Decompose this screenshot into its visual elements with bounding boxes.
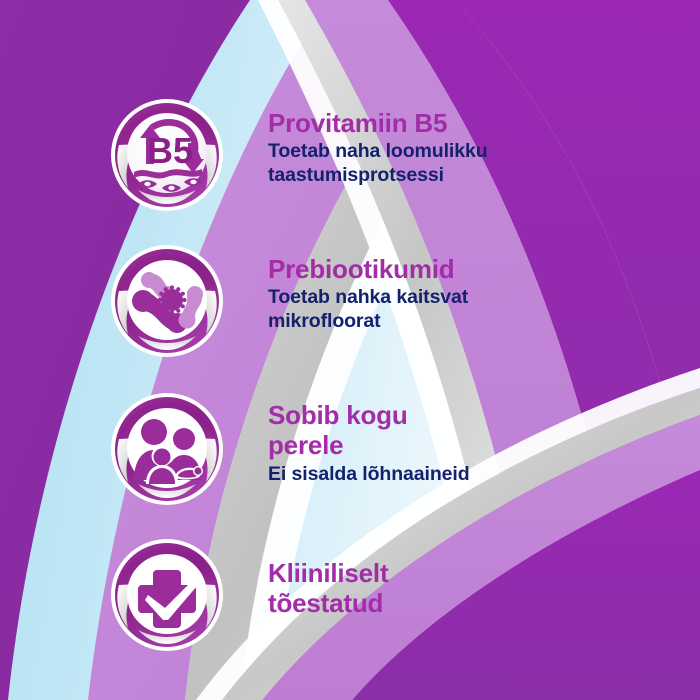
feature-title: Sobib kogu perele (268, 400, 700, 461)
feature-title: Kliiniliselt tõestatud (268, 558, 700, 619)
feature-text-family: Sobib kogu perele Ei sisalda lõhnaaineid (268, 392, 700, 487)
product-benefits-poster: B5 Provitamiin B5 (0, 0, 700, 700)
feature-row-prebiotics: Prebiootikumid Toetab nahka kaitsvat mik… (0, 244, 700, 358)
feature-title: Prebiootikumid (268, 254, 700, 284)
feature-row-family: Sobib kogu perele Ei sisalda lõhnaaineid (0, 392, 700, 506)
badge-provitamin-b5: B5 (110, 98, 224, 212)
feature-subtitle: Ei sisalda lõhnaaineid (268, 463, 700, 487)
badge-label-b5: B5 (147, 130, 193, 171)
feature-list: B5 Provitamiin B5 (0, 0, 700, 700)
feature-row-provitamin-b5: B5 Provitamiin B5 (0, 98, 700, 212)
feature-text-clinically-proven: Kliiniliselt tõestatud (268, 538, 700, 621)
feature-row-clinically-proven: Kliiniliselt tõestatud (0, 538, 700, 652)
feature-title: Provitamiin B5 (268, 108, 700, 138)
badge-family (110, 392, 224, 506)
feature-subtitle: Toetab naha loomulikku taastumisprotsess… (268, 140, 700, 188)
feature-text-prebiotics: Prebiootikumid Toetab nahka kaitsvat mik… (268, 244, 700, 334)
badge-prebiotics (110, 244, 224, 358)
badge-clinically-proven (110, 538, 224, 652)
feature-text-provitamin-b5: Provitamiin B5 Toetab naha loomulikku ta… (268, 98, 700, 188)
feature-subtitle: Toetab nahka kaitsvat mikrofloorat (268, 286, 700, 334)
